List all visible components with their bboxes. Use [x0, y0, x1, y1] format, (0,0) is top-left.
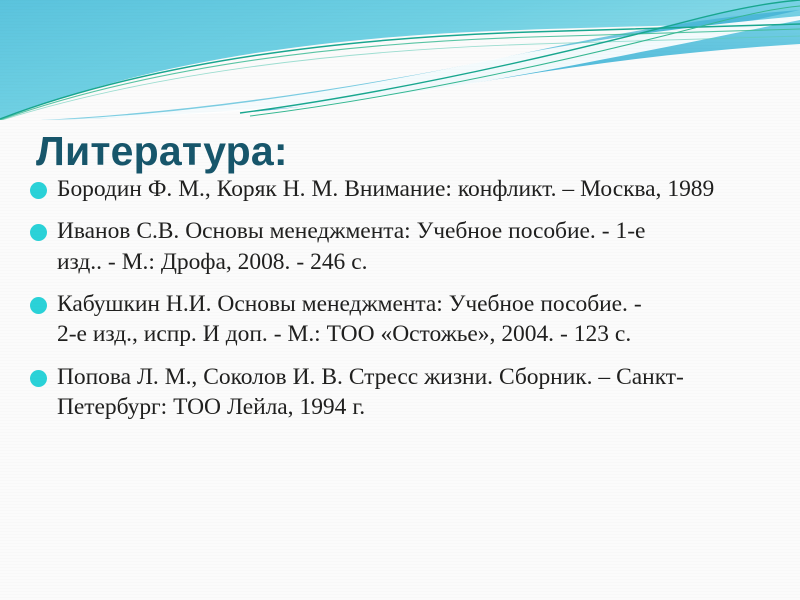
reference-text: Бородин Ф. М., Коряк Н. М. Внимание: кон…: [57, 174, 747, 204]
slide-title: Литература:: [36, 130, 288, 173]
reference-text: Иванов С.В. Основы менеджмента: Учебное …: [57, 216, 677, 277]
bullet-dot-icon: [30, 224, 47, 241]
bullet-dot-icon: [30, 182, 47, 199]
wave-ribbon-decoration: [0, 0, 800, 120]
wave-ribbon-svg: [0, 0, 800, 120]
list-item: Бородин Ф. М., Коряк Н. М. Внимание: кон…: [30, 174, 772, 204]
list-item: Попова Л. М., Соколов И. В. Стресс жизни…: [30, 362, 772, 423]
reference-list: Бородин Ф. М., Коряк Н. М. Внимание: кон…: [30, 174, 772, 422]
list-item: Кабушкин Н.И. Основы менеджмента: Учебно…: [30, 289, 772, 350]
list-item: Иванов С.В. Основы менеджмента: Учебное …: [30, 216, 772, 277]
reference-text: Кабушкин Н.И. Основы менеджмента: Учебно…: [57, 289, 657, 350]
bullet-dot-icon: [30, 370, 47, 387]
bullet-dot-icon: [30, 297, 47, 314]
presentation-slide: Литература: Бородин Ф. М., Коряк Н. М. В…: [0, 0, 800, 600]
reference-text: Попова Л. М., Соколов И. В. Стресс жизни…: [57, 362, 729, 423]
